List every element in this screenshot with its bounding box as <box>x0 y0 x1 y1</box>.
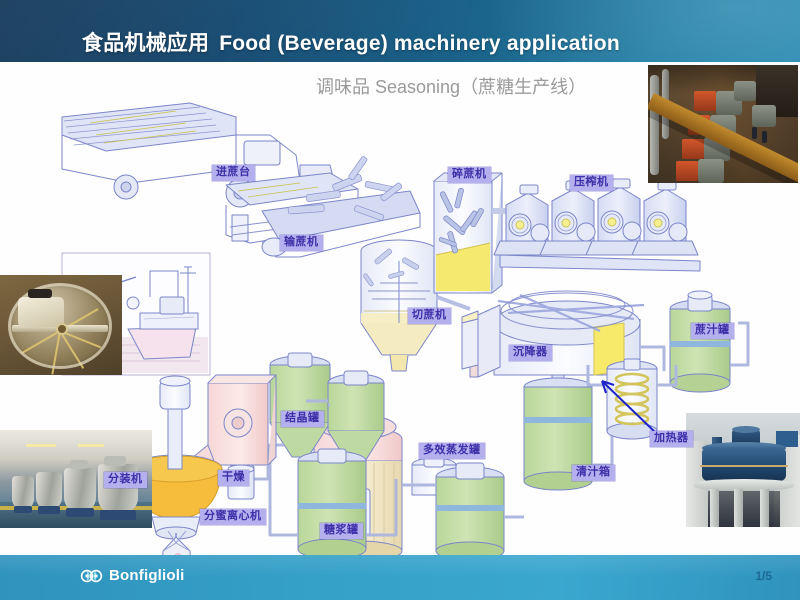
page-title-chinese: 食品机械应用 <box>82 32 209 55</box>
cane-mill-press-drawing <box>494 179 700 271</box>
slide-header: 食品机械应用Food (Beverage) machinery applicat… <box>0 0 800 62</box>
diagram-label-syrup-tank: 糖浆罐 <box>320 523 363 539</box>
photo-worker <box>752 127 757 139</box>
photo-tank-cap-top <box>732 426 760 433</box>
photo-gearbox <box>682 139 704 159</box>
photo-base <box>14 506 32 513</box>
photo-lamp <box>26 444 56 447</box>
photo-centrifuge <box>64 468 96 510</box>
diagram-label-cane-feed-table: 进蔗台 <box>212 165 255 181</box>
photo-deck <box>694 479 794 491</box>
brand-logo: Bonfiglioli <box>80 567 185 584</box>
photo-roller <box>752 105 776 127</box>
photo-centrifuge <box>36 472 62 508</box>
diagram-label-juice-tank: 蔗汁罐 <box>691 323 734 339</box>
photo-lamp <box>78 444 104 447</box>
photo-column <box>734 489 743 527</box>
photo-ceiling <box>0 430 152 460</box>
photo-gearbox <box>694 91 716 111</box>
diagram-label-clear-juice-box: 清汁箱 <box>572 465 615 481</box>
photo-roller <box>698 159 724 183</box>
mill-hall-photo <box>648 65 798 183</box>
photo-hub <box>56 323 68 335</box>
photo-motor <box>18 297 64 327</box>
diagram-label-clarifier: 沉降器 <box>509 345 552 361</box>
diagram-label-cane-conveyor: 输蔗机 <box>280 235 323 251</box>
page-title: 食品机械应用Food (Beverage) machinery applicat… <box>82 27 620 57</box>
photo-centrifuge-head <box>104 456 126 466</box>
photo-tank-drum <box>702 447 786 481</box>
photo-centrifuge <box>12 476 34 508</box>
diagram-label-packing-machine: 分装机 <box>104 472 147 488</box>
photo-column <box>710 489 719 527</box>
brand-name: Bonfiglioli <box>109 567 185 584</box>
juice-tank-drawing <box>670 291 748 392</box>
photo-base <box>100 510 136 520</box>
diagram-canvas: 调味品 Seasoning（蔗糖生产线） <box>0 65 800 555</box>
photo-pipe <box>650 75 659 175</box>
page-title-english: Food (Beverage) machinery application <box>219 32 620 55</box>
diagram-label-cane-mill-press: 压榨机 <box>570 175 613 191</box>
slide-footer: Bonfiglioli 1/5 <box>0 555 800 600</box>
slide: 食品机械应用Food (Beverage) machinery applicat… <box>0 0 800 600</box>
diagram-label-multi-effect-evaporator: 多效蒸发罐 <box>419 443 485 459</box>
photo-column <box>760 489 769 527</box>
diagram-label-centrifugal-separator: 分蜜离心机 <box>200 509 266 525</box>
bonfiglioli-gear-icon <box>80 568 104 584</box>
photo-handrail <box>700 465 788 467</box>
photo-worker <box>762 131 767 143</box>
clarifier-tank-photo <box>686 413 800 527</box>
diagram-label-crystallizer: 结晶罐 <box>281 411 324 427</box>
diagram-label-cane-cutter: 切蔗机 <box>408 308 451 324</box>
page-number: 1/5 <box>755 569 772 583</box>
honey-extractor-photo <box>0 275 122 375</box>
photo-roller <box>734 81 756 101</box>
diagram-label-cane-shredder: 碎蔗机 <box>448 167 491 183</box>
photo-base <box>38 506 60 514</box>
photo-centrifuge-head <box>70 460 88 469</box>
diagram-label-dryer: 干燥 <box>218 470 249 486</box>
photo-base <box>66 508 94 517</box>
diagram-label-heater: 加热器 <box>650 431 693 447</box>
photo-motor-cap <box>28 289 52 298</box>
photo-gearbox <box>676 161 698 181</box>
